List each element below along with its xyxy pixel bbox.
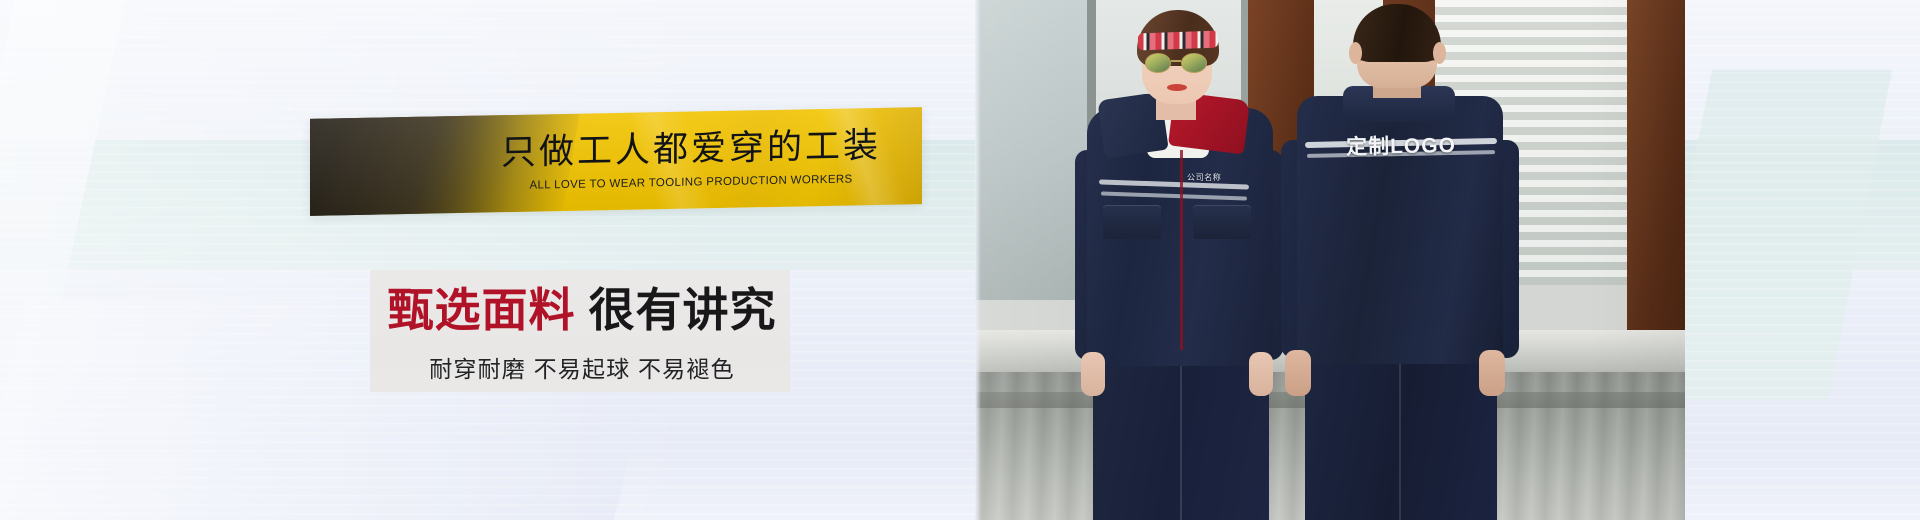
ribbon-subtitle: ALL LOVE TO WEAR TOOLING PRODUCTION WORK… bbox=[529, 174, 852, 192]
headline-row: 甄选面料 很有讲究 bbox=[388, 283, 777, 337]
promo-banner: 只做工人都爱穿的工装 ALL LOVE TO WEAR TOOLING PROD… bbox=[0, 0, 1920, 520]
photo-left-feather-edge bbox=[975, 0, 981, 520]
headline-subline: 耐穿耐磨 不易起球 不易褪色 bbox=[429, 350, 735, 384]
product-photo: 公司名称 定制LOGO bbox=[975, 0, 1685, 520]
model-male-trousers bbox=[1305, 352, 1497, 520]
headline-accent-text: 甄选面料 bbox=[388, 283, 576, 337]
custom-logo-label: 定制LOGO bbox=[1327, 129, 1476, 162]
sunglasses-bridge bbox=[1171, 60, 1181, 62]
ribbon-content: 只做工人都爱穿的工装 ALL LOVE TO WEAR TOOLING PROD… bbox=[310, 107, 922, 216]
model-female-hand-left bbox=[1081, 352, 1105, 396]
sunglasses-lens-left bbox=[1145, 53, 1171, 73]
model-female-zipper bbox=[1180, 150, 1183, 350]
yellow-ribbon-banner: 只做工人都爱穿的工装 ALL LOVE TO WEAR TOOLING PROD… bbox=[310, 107, 922, 216]
model-male-hand-right bbox=[1479, 350, 1505, 396]
ribbon-title: 只做工人都爱穿的工装 bbox=[501, 128, 881, 172]
model-male-hand-left bbox=[1285, 350, 1311, 396]
model-female-trouser-seam bbox=[1180, 360, 1182, 520]
model-male-ear-left bbox=[1349, 42, 1362, 64]
model-female-chest-pocket-right bbox=[1193, 205, 1251, 239]
headline-secondary-text: 很有讲究 bbox=[589, 283, 777, 337]
model-male-ear-right bbox=[1433, 42, 1446, 64]
sunglasses-lens-right bbox=[1181, 53, 1207, 73]
headline-block: 甄选面料 很有讲究 耐穿耐磨 不易起球 不易褪色 bbox=[370, 283, 794, 384]
model-male-trouser-seam bbox=[1399, 356, 1401, 520]
model-female-lips bbox=[1167, 84, 1187, 91]
model-female-chest-pocket-left bbox=[1103, 205, 1161, 239]
model-female-hand-right bbox=[1249, 352, 1273, 396]
model-female-sunglasses bbox=[1145, 53, 1209, 73]
model-female-plaid-headband bbox=[1138, 31, 1219, 51]
company-name-label: 公司名称 bbox=[1187, 172, 1221, 183]
